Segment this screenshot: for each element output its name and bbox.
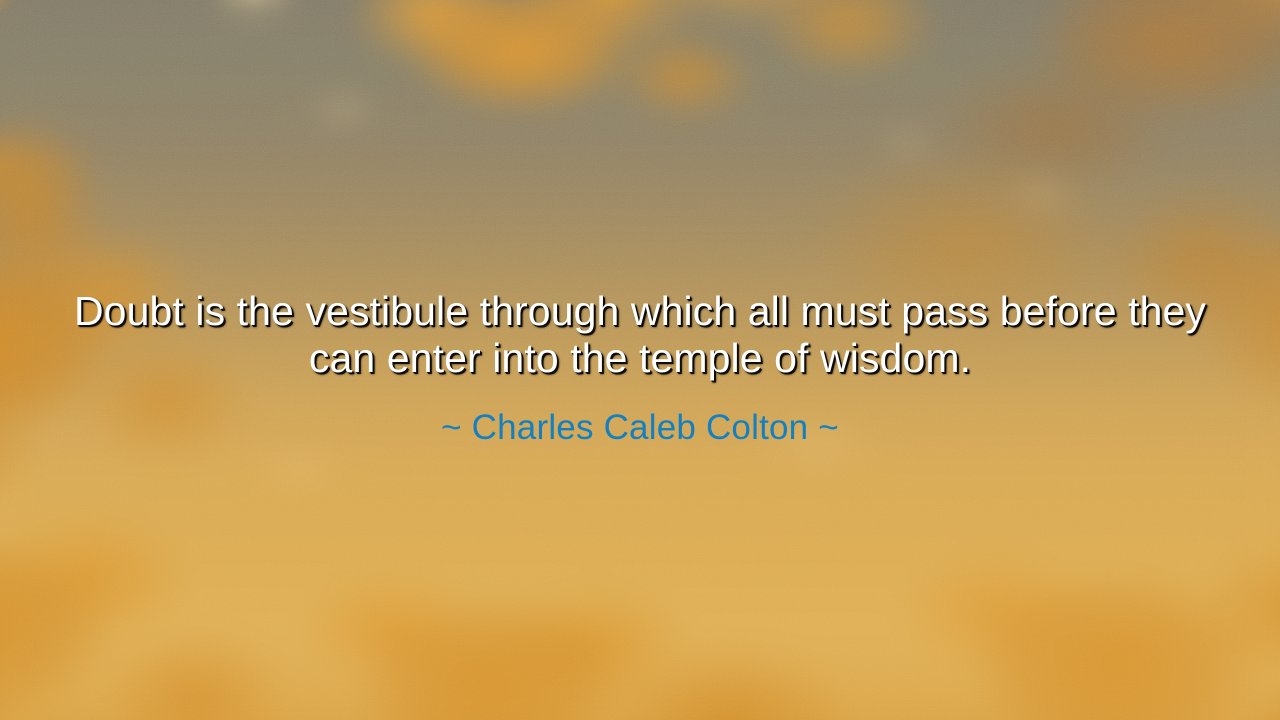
quote-block: Doubt is the vestibule through which all…	[0, 288, 1280, 448]
quote-line-2: can enter into the temple of wisdom.	[60, 335, 1220, 382]
quote-card-canvas: Doubt is the vestibule through which all…	[0, 0, 1280, 720]
quote-attribution: ~ Charles Caleb Colton ~	[60, 408, 1220, 448]
quote-line-1: Doubt is the vestibule through which all…	[60, 288, 1220, 335]
